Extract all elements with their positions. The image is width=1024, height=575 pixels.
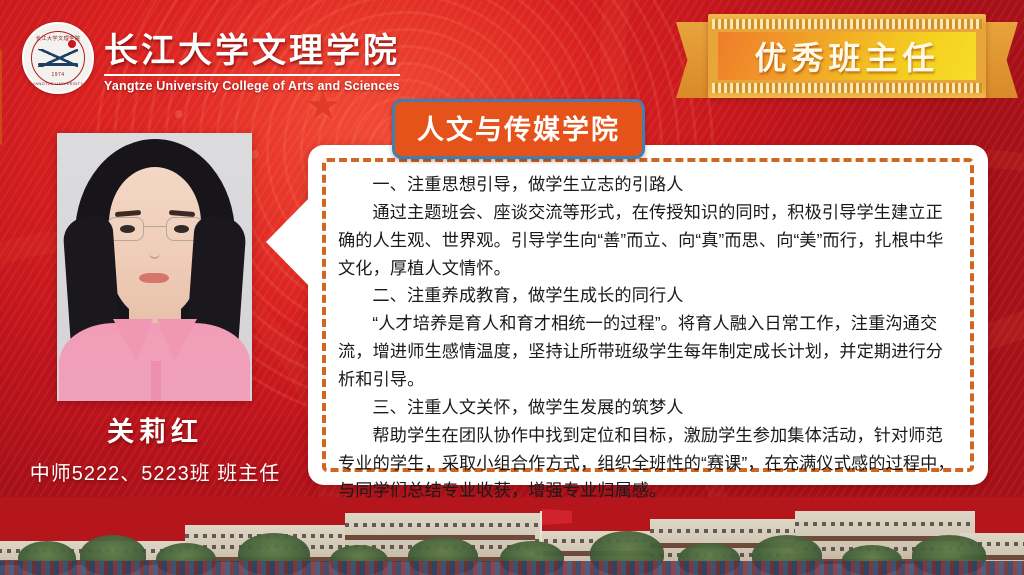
department-title-box: 人文与传媒学院 (392, 99, 645, 159)
portrait-shirt (59, 323, 250, 401)
department-title: 人文与传媒学院 (417, 108, 620, 147)
emblem-year: 1974 (24, 72, 92, 78)
ribbon-body: 优秀班主任 (708, 14, 986, 98)
university-emblem-icon: 长江大学文理学院 1974 YANGTZE UNIVERSITY (22, 22, 94, 94)
award-title: 优秀班主任 (754, 33, 939, 79)
content-paragraph: 三、注重人文关怀，做学生发展的筑梦人 (338, 394, 960, 422)
university-logo-block: 长江大学文理学院 1974 YANGTZE UNIVERSITY 长江大学文理学… (22, 22, 400, 94)
emblem-bridge-mark-icon (38, 49, 78, 67)
portrait-glasses-icon (107, 217, 203, 241)
background-dot (175, 110, 183, 118)
teacher-role: 中师5222、5223班 班主任 (14, 457, 296, 486)
ribbon-plate: 优秀班主任 (718, 32, 976, 80)
emblem-arc-bottom-text: YANGTZE UNIVERSITY (24, 81, 92, 86)
campus-photo-band (0, 497, 1024, 575)
teacher-name-block: 关莉红 中师5222、5223班 班主任 (14, 410, 296, 486)
content-callout-card: 一、注重思想引导，做学生立志的引路人 通过主题班会、座谈交流等形式，在传授知识的… (308, 145, 988, 485)
university-name-cn: 长江大学文理学院 (104, 23, 400, 72)
national-flag-icon (542, 509, 572, 525)
university-titles: 长江大学文理学院 Yangtze University College of A… (104, 23, 400, 93)
content-paragraph: 二、注重养成教育，做学生成长的同行人 (338, 282, 960, 310)
content-body: 一、注重思想引导，做学生立志的引路人 通过主题班会、座谈交流等形式，在传授知识的… (338, 171, 960, 461)
content-paragraph: “人才培养是育人和育才相统一的过程”。将育人融入日常工作，注重沟通交流，增进师生… (338, 310, 960, 394)
portrait-nose (149, 243, 160, 259)
university-name-en: Yangtze University College of Arts and S… (104, 74, 400, 93)
content-paragraph: 通过主题班会、座谈交流等形式，在传授知识的同时，积极引导学生建立正确的人生观、世… (338, 199, 960, 283)
teacher-name: 关莉红 (14, 410, 296, 449)
award-ribbon: 优秀班主任 (682, 14, 1012, 98)
shirt-placket (151, 361, 161, 401)
poster-root: ★ ★ 长江大学文理学院 1974 YANGTZE UNIVERSITY 长江大… (0, 0, 1024, 575)
glasses-bridge (144, 226, 166, 227)
portrait-mouth (139, 273, 169, 283)
teacher-portrait-photo (57, 133, 252, 401)
content-paragraph: 帮助学生在团队协作中找到定位和目标，激励学生参加集体活动，针对师范专业的学生，采… (338, 422, 960, 506)
content-paragraph: 一、注重思想引导，做学生立志的引路人 (338, 171, 960, 199)
campus-crowd (0, 561, 1024, 575)
callout-tail-border (0, 48, 2, 146)
emblem-sun-icon (68, 40, 76, 48)
